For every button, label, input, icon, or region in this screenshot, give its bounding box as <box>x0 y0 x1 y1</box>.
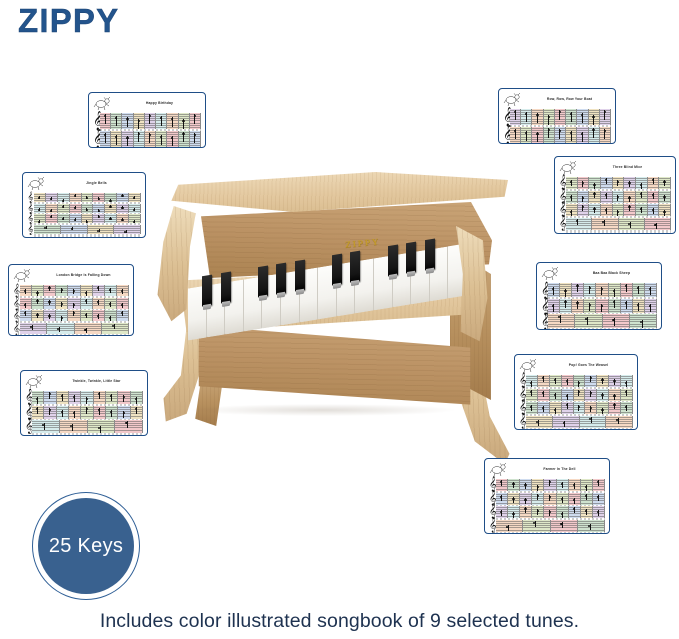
music-measure <box>548 314 575 328</box>
music-measure <box>145 131 156 147</box>
music-measure <box>659 204 671 216</box>
music-measure <box>578 204 590 216</box>
music-measure <box>562 375 574 387</box>
music-measure <box>621 283 633 297</box>
music-stave: 𝄞 <box>27 214 141 223</box>
piano-black-key <box>276 263 286 296</box>
music-measure <box>550 402 562 414</box>
music-measure <box>557 493 569 505</box>
music-measure <box>600 127 611 143</box>
songbook-card: Three Blind Mice𝄞𝄞𝄞𝄞 <box>554 156 676 234</box>
music-measure <box>93 214 105 223</box>
music-measure <box>613 191 625 203</box>
music-measure <box>122 113 133 129</box>
songbook-card: Jingle Bells𝄞𝄞𝄞𝄞 <box>22 172 146 238</box>
music-measure <box>134 113 145 129</box>
rowboat-icon <box>503 92 525 107</box>
music-measure <box>61 225 88 234</box>
music-measure <box>574 402 586 414</box>
music-measure <box>129 214 141 223</box>
songbook-card: Row, Row, Row Your Boat𝄞𝄞 <box>498 88 616 144</box>
music-measure <box>70 193 82 202</box>
music-measure <box>578 191 590 203</box>
music-measure <box>111 131 122 147</box>
music-stave: 𝄞 <box>25 391 143 404</box>
songbook-card: Farmer In The Dell𝄞𝄞𝄞𝄞 <box>484 458 610 534</box>
music-measure <box>523 520 550 532</box>
music-measure <box>496 479 508 491</box>
songbook-card: Twinkle, Twinkle, Little Star𝄞𝄞𝄞 <box>20 370 148 436</box>
music-measure <box>578 520 605 532</box>
treble-clef-icon: 𝄞 <box>519 375 526 387</box>
treble-clef-icon: 𝄞 <box>13 323 20 334</box>
music-stave: 𝄞 <box>503 127 611 143</box>
music-measure <box>544 479 556 491</box>
treble-clef-icon: 𝄞 <box>489 493 496 505</box>
music-measure <box>630 314 657 328</box>
music-measure <box>648 204 660 216</box>
music-measure <box>613 204 625 216</box>
farmer-icon <box>489 462 511 477</box>
music-measure <box>44 310 56 321</box>
music-measure <box>131 391 143 404</box>
treble-clef-icon: 𝄞 <box>25 391 32 404</box>
music-measure <box>601 177 613 189</box>
music-stave: 𝄞 <box>519 402 633 414</box>
music-measure <box>581 493 593 505</box>
piano-black-key <box>350 251 360 284</box>
songbook-card: Happy Birthday𝄞𝄞 <box>88 92 206 148</box>
treble-clef-icon: 𝄞 <box>519 402 526 414</box>
music-measure <box>589 191 601 203</box>
toy-piano-illustration: ZIPPY <box>150 168 516 464</box>
music-measure <box>131 406 143 419</box>
music-measure <box>601 191 613 203</box>
treble-clef-icon: 𝄞 <box>13 298 20 309</box>
music-measure <box>70 204 82 213</box>
music-measure <box>510 127 521 143</box>
music-measure <box>566 191 578 203</box>
lyric-line <box>548 328 657 330</box>
product-caption: Includes color illustrated songbook of 9… <box>0 610 679 633</box>
music-measure <box>569 506 581 518</box>
music-measure <box>593 479 605 491</box>
treble-clef-icon: 𝄞 <box>559 218 566 230</box>
music-measure <box>44 298 56 309</box>
lyric-line <box>510 143 611 145</box>
music-measure <box>585 375 597 387</box>
music-measure <box>117 310 129 321</box>
music-measure <box>93 298 105 309</box>
music-measure <box>46 193 58 202</box>
music-measure <box>584 283 596 297</box>
lyric-line <box>20 334 129 337</box>
music-stave: 𝄞 <box>559 218 671 230</box>
music-measure <box>508 479 520 491</box>
music-measure <box>596 299 608 313</box>
music-measure <box>34 225 61 234</box>
music-stave: 𝄞 <box>93 131 201 147</box>
treble-clef-icon: 𝄞 <box>489 520 496 532</box>
music-stave: 𝄞 <box>489 493 605 505</box>
treble-clef-icon: 𝄞 <box>27 204 34 213</box>
music-stave: 𝄞 <box>519 389 633 401</box>
songbook-card: London Bridge Is Falling Down𝄞𝄞𝄞𝄞 <box>8 264 134 336</box>
music-measure <box>538 402 550 414</box>
music-measure <box>659 191 671 203</box>
treble-clef-icon: 𝄞 <box>503 109 510 125</box>
songbook-card-title: Baa Baa Black Sheep <box>566 266 657 281</box>
music-stave: 𝄞 <box>559 204 671 216</box>
music-measure <box>100 113 111 129</box>
music-measure <box>574 389 586 401</box>
piano-black-key <box>295 260 305 293</box>
music-measure <box>585 402 597 414</box>
black-sheep-icon <box>541 266 563 281</box>
music-measure <box>69 406 81 419</box>
music-measure <box>648 177 660 189</box>
music-measure <box>82 193 94 202</box>
piano-black-key <box>258 266 268 299</box>
music-measure <box>581 506 593 518</box>
music-measure <box>572 283 584 297</box>
music-measure <box>532 127 543 143</box>
music-measure <box>580 416 607 428</box>
music-stave: 𝄞 <box>489 479 605 491</box>
music-measure <box>81 406 93 419</box>
music-measure <box>56 310 68 321</box>
music-measure <box>645 299 657 313</box>
music-measure <box>32 285 44 296</box>
music-measure <box>508 493 520 505</box>
weasel-icon <box>519 358 541 373</box>
music-stave: 𝄞 <box>27 225 141 234</box>
music-measure <box>496 506 508 518</box>
treble-clef-icon: 𝄞 <box>489 479 496 491</box>
music-measure <box>566 177 578 189</box>
music-measure <box>596 283 608 297</box>
music-measure <box>532 109 543 125</box>
songbook-card-title: Happy Birthday <box>118 96 201 111</box>
piano-black-key <box>332 254 342 287</box>
music-measure <box>44 285 56 296</box>
music-stave: 𝄞 <box>489 506 605 518</box>
music-measure <box>636 191 648 203</box>
music-measure <box>94 391 106 404</box>
music-measure <box>609 375 621 387</box>
music-measure <box>20 285 32 296</box>
songbook-card-title: Row, Row, Row Your Boat <box>528 92 611 107</box>
music-stave: 𝄞 <box>519 375 633 387</box>
music-measure <box>574 375 586 387</box>
music-measure <box>44 406 56 419</box>
music-measure <box>606 416 633 428</box>
music-measure <box>93 285 105 296</box>
music-measure <box>58 214 70 223</box>
mice-icon <box>559 160 581 175</box>
music-measure <box>624 204 636 216</box>
music-measure <box>56 298 68 309</box>
treble-clef-icon: 𝄞 <box>489 506 496 518</box>
music-measure <box>577 127 588 143</box>
music-measure <box>544 506 556 518</box>
treble-clef-icon: 𝄞 <box>93 131 100 147</box>
music-stave: 𝄞 <box>541 283 657 297</box>
music-measure <box>532 493 544 505</box>
music-stave: 𝄞 <box>503 109 611 125</box>
product-image-canvas: ZIPPY ZIPPY Happy Birthday𝄞𝄞Jingle Bells… <box>0 0 679 639</box>
treble-clef-icon: 𝄞 <box>541 299 548 313</box>
music-stave: 𝄞 <box>519 416 633 428</box>
music-measure <box>508 506 520 518</box>
music-stave: 𝄞 <box>541 314 657 328</box>
music-measure <box>118 391 130 404</box>
bridge-icon <box>13 268 35 283</box>
music-measure <box>114 225 141 234</box>
music-measure <box>550 375 562 387</box>
music-measure <box>102 323 129 334</box>
music-measure <box>20 323 47 334</box>
music-measure <box>557 506 569 518</box>
music-measure <box>70 214 82 223</box>
music-measure <box>82 204 94 213</box>
treble-clef-icon: 𝄞 <box>559 191 566 203</box>
music-measure <box>510 109 521 125</box>
treble-clef-icon: 𝄞 <box>559 177 566 189</box>
music-measure <box>34 193 46 202</box>
music-measure <box>57 406 69 419</box>
piano-black-key <box>388 245 398 278</box>
music-measure <box>621 389 633 401</box>
music-stave: 𝄞 <box>489 520 605 532</box>
songbook-card-title: Farmer In The Dell <box>514 462 605 477</box>
music-measure <box>521 127 532 143</box>
music-measure <box>122 131 133 147</box>
music-measure <box>526 402 538 414</box>
music-measure <box>106 406 118 419</box>
music-measure <box>555 127 566 143</box>
music-measure <box>562 402 574 414</box>
music-measure <box>167 131 178 147</box>
treble-clef-icon: 𝄞 <box>25 406 32 419</box>
music-measure <box>589 177 601 189</box>
music-measure <box>581 479 593 491</box>
music-measure <box>129 193 141 202</box>
songbook-card-title: Pop! Goes The Weasel <box>544 358 633 373</box>
music-measure <box>32 310 44 321</box>
music-measure <box>572 299 584 313</box>
music-measure <box>566 109 577 125</box>
music-stave: 𝄞 <box>13 285 129 296</box>
treble-clef-icon: 𝄞 <box>519 416 526 428</box>
music-measure <box>624 177 636 189</box>
music-measure <box>520 479 532 491</box>
music-measure <box>117 204 129 213</box>
music-measure <box>577 109 588 125</box>
music-measure <box>593 506 605 518</box>
music-measure <box>645 283 657 297</box>
music-measure <box>648 191 660 203</box>
treble-clef-icon: 𝄞 <box>559 204 566 216</box>
star-child-icon <box>25 374 47 389</box>
music-measure <box>548 299 560 313</box>
music-measure <box>538 375 550 387</box>
treble-clef-icon: 𝄞 <box>27 193 34 202</box>
treble-clef-icon: 𝄞 <box>93 113 100 129</box>
music-stave: 𝄞 <box>93 113 201 129</box>
music-measure <box>613 177 625 189</box>
music-stave: 𝄞 <box>13 298 129 309</box>
music-measure <box>609 402 621 414</box>
music-measure <box>550 389 562 401</box>
music-measure <box>105 214 117 223</box>
music-measure <box>538 389 550 401</box>
music-measure <box>32 391 44 404</box>
music-measure <box>115 420 143 433</box>
lyric-line <box>496 532 605 535</box>
music-measure <box>81 391 93 404</box>
music-measure <box>58 204 70 213</box>
music-stave: 𝄞 <box>27 204 141 213</box>
music-measure <box>560 283 572 297</box>
music-measure <box>557 479 569 491</box>
music-measure <box>47 323 74 334</box>
music-measure <box>117 214 129 223</box>
music-measure <box>520 493 532 505</box>
music-measure <box>44 391 56 404</box>
music-measure <box>88 420 116 433</box>
badge-inner-circle: 25 Keys <box>38 498 134 594</box>
piano-black-key <box>406 242 416 275</box>
music-measure <box>145 113 156 129</box>
treble-clef-icon: 𝄞 <box>13 285 20 296</box>
piano-shadow <box>192 404 454 416</box>
music-measure <box>32 420 60 433</box>
music-stave: 𝄞 <box>25 406 143 419</box>
music-measure <box>117 298 129 309</box>
music-measure <box>93 193 105 202</box>
music-measure <box>156 131 167 147</box>
music-measure <box>105 193 117 202</box>
music-measure <box>81 298 93 309</box>
music-measure <box>619 218 645 230</box>
music-measure <box>621 402 633 414</box>
music-measure <box>597 375 609 387</box>
music-measure <box>597 402 609 414</box>
music-measure <box>548 283 560 297</box>
music-measure <box>75 323 102 334</box>
music-measure <box>56 285 68 296</box>
lyric-line <box>100 147 201 149</box>
music-measure <box>569 493 581 505</box>
lyric-line <box>34 234 141 237</box>
music-measure <box>560 299 572 313</box>
lyric-line <box>526 428 633 431</box>
music-stave: 𝄞 <box>559 177 671 189</box>
songbook-card: Pop! Goes The Weasel𝄞𝄞𝄞𝄞 <box>514 354 638 430</box>
music-stave: 𝄞 <box>27 193 141 202</box>
music-measure <box>555 109 566 125</box>
sleigh-horse-icon <box>27 176 49 191</box>
songbook-card-title: Jingle Bells <box>52 176 141 191</box>
songbook-card-title: Twinkle, Twinkle, Little Star <box>50 374 143 389</box>
music-measure <box>532 506 544 518</box>
music-measure <box>20 298 32 309</box>
music-measure <box>34 214 46 223</box>
music-measure <box>34 204 46 213</box>
music-measure <box>624 191 636 203</box>
music-measure <box>129 204 141 213</box>
music-measure <box>68 285 80 296</box>
music-measure <box>32 298 44 309</box>
music-measure <box>636 177 648 189</box>
music-measure <box>179 113 190 129</box>
music-measure <box>544 493 556 505</box>
music-measure <box>134 131 145 147</box>
music-measure <box>526 375 538 387</box>
treble-clef-icon: 𝄞 <box>27 214 34 223</box>
music-measure <box>589 109 600 125</box>
music-measure <box>58 193 70 202</box>
music-measure <box>106 391 118 404</box>
music-stave: 𝄞 <box>559 191 671 203</box>
music-measure <box>601 204 613 216</box>
badge-label: 25 Keys <box>49 535 123 558</box>
music-measure <box>621 375 633 387</box>
treble-clef-icon: 𝄞 <box>541 283 548 297</box>
music-measure <box>105 310 117 321</box>
music-measure <box>544 109 555 125</box>
piano-black-key <box>221 272 231 305</box>
brand-logo: ZIPPY <box>18 2 119 40</box>
music-measure <box>190 131 201 147</box>
treble-clef-icon: 𝄞 <box>541 314 548 328</box>
music-measure <box>593 493 605 505</box>
music-stave: 𝄞 <box>541 299 657 313</box>
music-measure <box>659 177 671 189</box>
music-measure <box>105 298 117 309</box>
music-measure <box>526 416 553 428</box>
music-measure <box>551 520 578 532</box>
treble-clef-icon: 𝄞 <box>519 389 526 401</box>
music-measure <box>521 109 532 125</box>
music-measure <box>585 389 597 401</box>
music-measure <box>569 479 581 491</box>
lyric-line <box>32 433 143 436</box>
music-measure <box>592 218 618 230</box>
songbook-card-title: Three Blind Mice <box>584 160 671 175</box>
music-measure <box>597 389 609 401</box>
music-measure <box>633 299 645 313</box>
music-measure <box>633 283 645 297</box>
music-measure <box>553 416 580 428</box>
music-measure <box>190 113 201 129</box>
music-measure <box>589 127 600 143</box>
music-measure <box>566 204 578 216</box>
music-measure <box>111 113 122 129</box>
music-measure <box>636 204 648 216</box>
music-measure <box>645 218 671 230</box>
music-measure <box>575 314 602 328</box>
music-measure <box>609 299 621 313</box>
music-measure <box>82 214 94 223</box>
music-measure <box>117 193 129 202</box>
music-measure <box>562 389 574 401</box>
birthday-cake-icon <box>93 96 115 111</box>
music-measure <box>578 177 590 189</box>
music-measure <box>20 310 32 321</box>
music-measure <box>105 204 117 213</box>
